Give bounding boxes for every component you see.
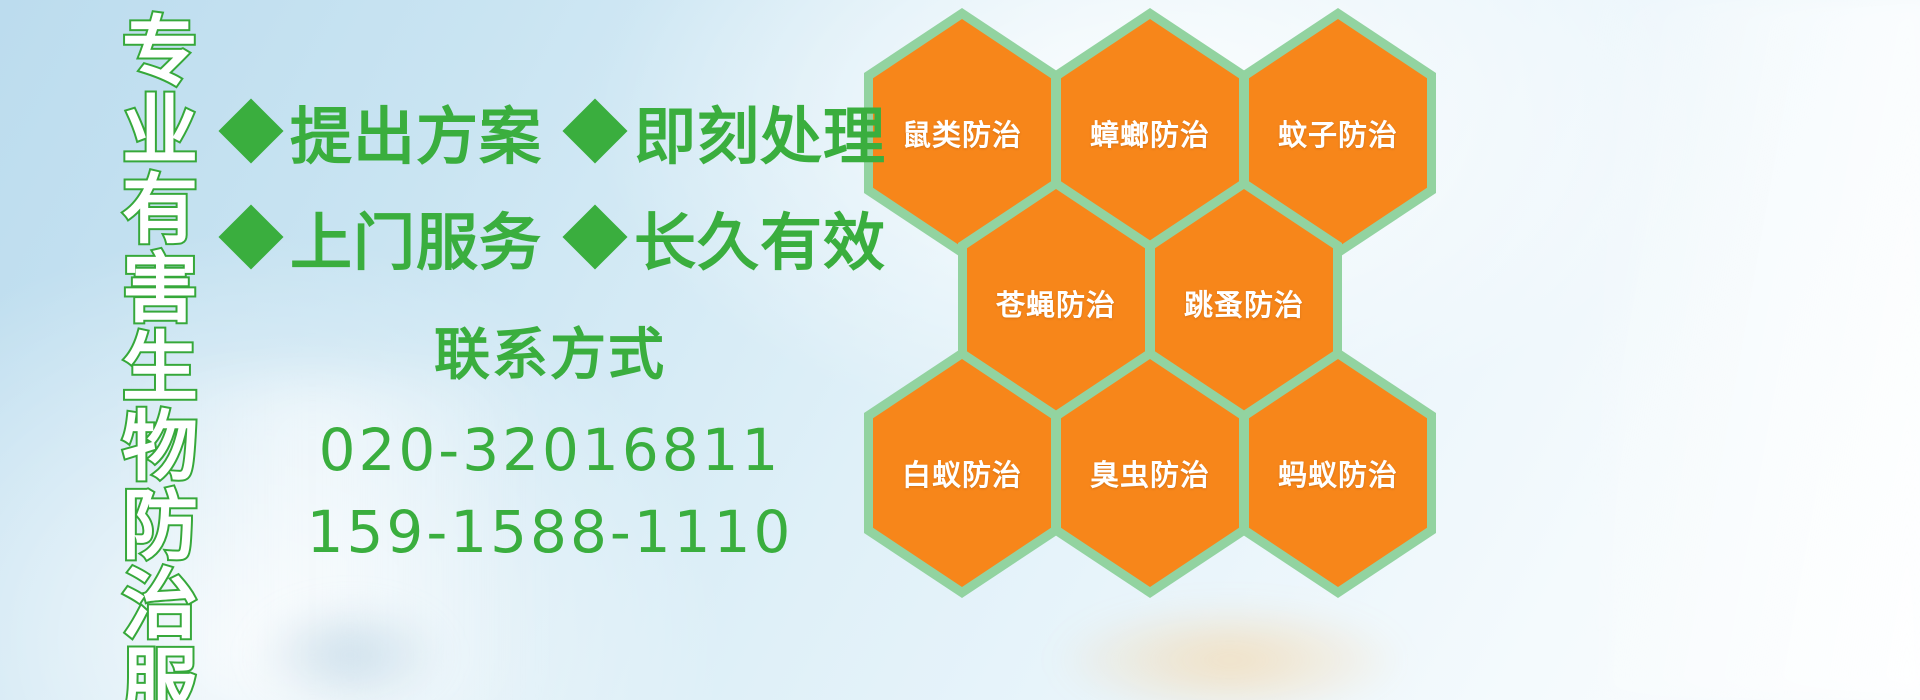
headline-char: 服 <box>122 644 198 700</box>
feature-label: 长久有效 <box>634 192 886 282</box>
contact-title: 联系方式 <box>300 310 800 391</box>
service-hex-termite[interactable]: 白蚁防治 <box>864 348 1060 598</box>
pest-control-banner: 专 业 有 害 生 物 防 治 服 务 提出方案 即刻处理 上门服务 <box>0 0 1920 700</box>
feature-list: 提出方案 即刻处理 上门服务 长久有效 <box>228 78 886 290</box>
headline-char: 治 <box>122 565 198 644</box>
headline-char: 物 <box>122 407 198 486</box>
feature-label: 即刻处理 <box>634 86 886 176</box>
diamond-bullet-icon <box>562 204 627 269</box>
service-hex-ant[interactable]: 蚂蚁防治 <box>1240 348 1436 598</box>
service-label: 白蚁防治 <box>864 348 1060 598</box>
feature-item-propose-plan: 提出方案 <box>228 86 542 176</box>
headline-char: 有 <box>122 170 198 249</box>
diamond-bullet-icon <box>218 98 283 163</box>
headline-char: 生 <box>122 328 198 407</box>
service-label: 蚂蚁防治 <box>1240 348 1436 598</box>
diamond-bullet-icon <box>218 204 283 269</box>
diamond-bullet-icon <box>562 98 627 163</box>
headline-char: 专 <box>122 12 198 91</box>
service-label: 臭虫防治 <box>1052 348 1248 598</box>
service-hex-bedbug[interactable]: 臭虫防治 <box>1052 348 1248 598</box>
feature-label: 上门服务 <box>290 192 542 282</box>
headline-char: 防 <box>122 486 198 565</box>
feature-label: 提出方案 <box>290 86 542 176</box>
background-glow-left <box>250 600 450 700</box>
service-honeycomb: 鼠类防治 蟑螂防治 蚊子防治 苍蝇防治 跳蚤防治 白蚁防治 <box>856 0 1476 700</box>
vertical-headline: 专 业 有 害 生 物 防 治 服 务 <box>104 12 216 672</box>
feature-item-onsite-service: 上门服务 <box>228 192 542 282</box>
contact-block: 联系方式 020-32016811 159-1588-1110 <box>300 310 800 573</box>
contact-phone-mobile[interactable]: 159-1588-1110 <box>300 491 800 573</box>
headline-char: 业 <box>122 91 198 170</box>
contact-phone-landline[interactable]: 020-32016811 <box>300 409 800 491</box>
feature-item-long-lasting: 长久有效 <box>572 192 886 282</box>
feature-row: 上门服务 长久有效 <box>228 184 886 290</box>
feature-row: 提出方案 即刻处理 <box>228 78 886 184</box>
feature-item-immediate-handling: 即刻处理 <box>572 86 886 176</box>
headline-char: 害 <box>122 249 198 328</box>
background-highlight-right <box>1600 0 1920 700</box>
